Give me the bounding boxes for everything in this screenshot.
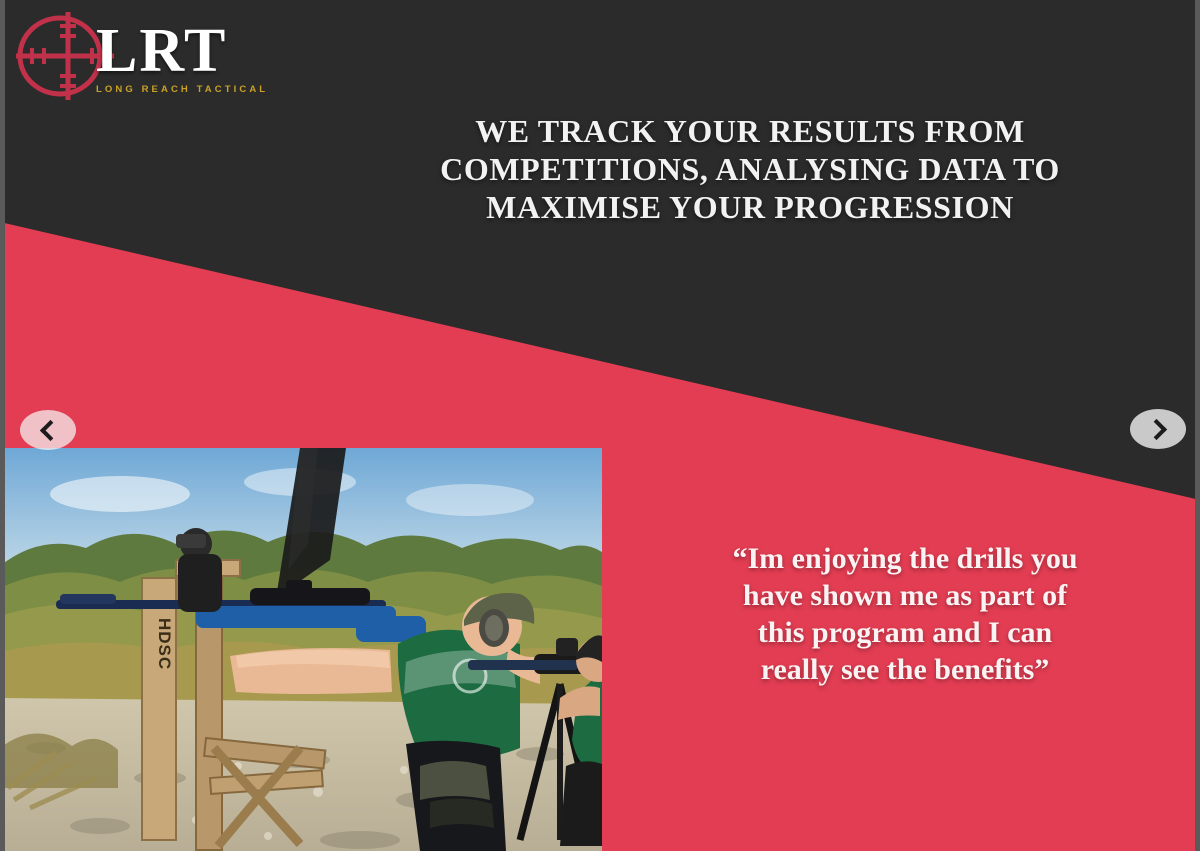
brand-logo[interactable]: LRT LONG REACH TACTICAL — [8, 8, 258, 106]
left-edge-strip — [0, 0, 5, 851]
hero-carousel-slide: LRT LONG REACH TACTICAL WE TRACK YOUR RE… — [0, 0, 1200, 851]
hero-headline: WE TRACK YOUR RESULTS FROM COMPETITIONS,… — [330, 112, 1170, 226]
headline-line-1: WE TRACK YOUR RESULTS FROM — [330, 112, 1170, 150]
quote-line-3: this program and I can — [625, 614, 1185, 651]
headline-line-3: MAXIMISE YOUR PROGRESSION — [330, 188, 1170, 226]
quote-line-1: “Im enjoying the drills you — [625, 540, 1185, 577]
testimonial-quote: “Im enjoying the drills you have shown m… — [625, 540, 1185, 688]
chevron-right-icon — [1145, 418, 1166, 439]
quote-line-4: really see the benefits” — [625, 651, 1185, 688]
chevron-left-icon — [39, 419, 60, 440]
carousel-next-button[interactable] — [1130, 409, 1186, 449]
logo-wordmark: LRT — [96, 20, 256, 82]
right-edge-strip — [1195, 0, 1200, 851]
carousel-prev-button[interactable] — [20, 410, 76, 450]
svg-text:HDSC: HDSC — [155, 618, 174, 670]
quote-line-2: have shown me as part of — [625, 577, 1185, 614]
logo-tagline: LONG REACH TACTICAL — [96, 84, 256, 95]
headline-line-2: COMPETITIONS, ANALYSING DATA TO — [330, 150, 1170, 188]
range-scene-illustration: HDSC — [0, 448, 602, 851]
testimonial-photo: HDSC — [0, 448, 602, 851]
